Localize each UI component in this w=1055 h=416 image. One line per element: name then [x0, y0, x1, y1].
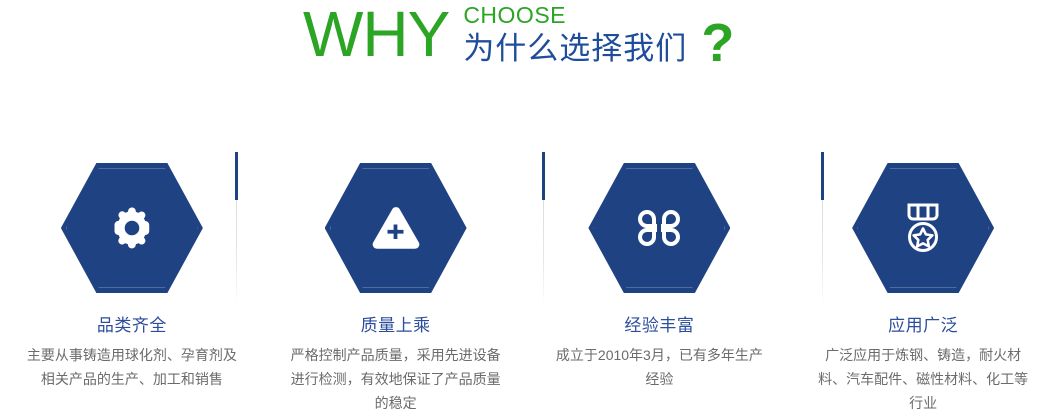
divider-accent-segment	[235, 152, 238, 200]
divider-accent-segment	[821, 152, 824, 200]
card-description: 广泛应用于炼钢、铸造，耐火材料、汽车配件、磁性材料、化工等行业	[818, 343, 1028, 415]
card-title: 应用广泛	[888, 315, 958, 337]
page-header: WHY CHOOSE 为什么选择我们 ?	[0, 0, 1055, 95]
card-description: 成立于2010年3月，已有多年生产经验	[554, 343, 764, 391]
hexagon-badge-1	[61, 163, 203, 293]
divider-line-segment	[236, 200, 237, 307]
card-divider-1	[235, 152, 238, 307]
card-title: 品类齐全	[97, 315, 167, 337]
card-divider-2	[542, 152, 545, 307]
feature-card-4[interactable]: 应用广泛 广泛应用于炼钢、铸造，耐火材料、汽车配件、磁性材料、化工等行业	[791, 150, 1055, 416]
triangle-plus-icon	[368, 200, 424, 256]
feature-card-1[interactable]: 品类齐全 主要从事铸造用球化剂、孕育剂及相关产品的生产、加工和销售	[0, 150, 264, 416]
header-title-group: WHY CHOOSE 为什么选择我们 ?	[303, 0, 734, 70]
hexagon-badge-4	[852, 163, 994, 293]
divider-accent-segment	[542, 152, 545, 200]
divider-line-segment	[822, 200, 823, 307]
header-choose-word: CHOOSE	[463, 2, 687, 28]
clover-icon	[631, 200, 687, 256]
header-chinese-title: 为什么选择我们	[463, 30, 687, 68]
medal-icon	[895, 200, 951, 256]
card-description: 主要从事铸造用球化剂、孕育剂及相关产品的生产、加工和销售	[27, 343, 237, 391]
card-divider-3	[821, 152, 824, 307]
gear-icon	[104, 200, 160, 256]
feature-card-2[interactable]: 质量上乘 严格控制产品质量，采用先进设备进行检测，有效地保证了产品质量的稳定	[264, 150, 528, 416]
header-question-mark: ?	[701, 16, 734, 70]
card-title: 经验丰富	[624, 315, 694, 337]
hexagon-badge-2	[325, 163, 467, 293]
card-title: 质量上乘	[361, 315, 431, 337]
feature-card-3[interactable]: 经验丰富 成立于2010年3月，已有多年生产经验	[528, 150, 792, 416]
divider-line-segment	[543, 200, 544, 307]
card-description: 严格控制产品质量，采用先进设备进行检测，有效地保证了产品质量的稳定	[291, 343, 501, 415]
header-why-word: WHY	[303, 0, 449, 70]
header-text-stack: CHOOSE 为什么选择我们	[463, 2, 687, 68]
feature-card-row: 品类齐全 主要从事铸造用球化剂、孕育剂及相关产品的生产、加工和销售 质量上乘 严…	[0, 150, 1055, 416]
hexagon-badge-3	[588, 163, 730, 293]
